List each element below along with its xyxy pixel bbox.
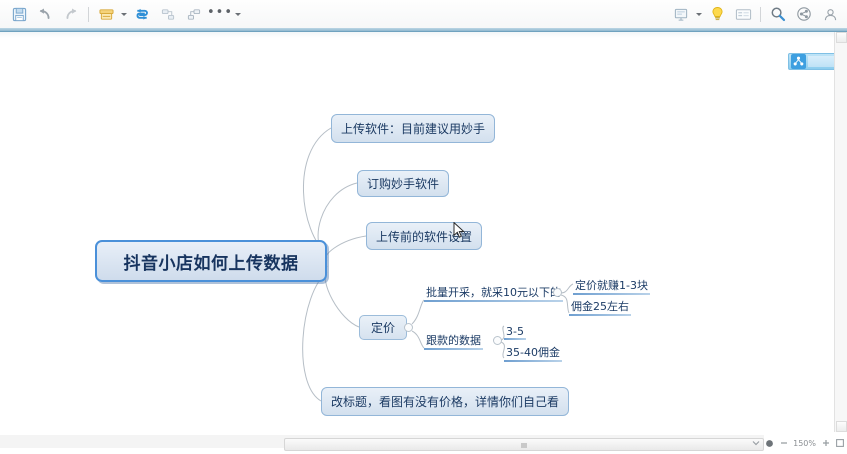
horizontal-scrollbar-track[interactable]: [0, 435, 764, 448]
collapse-toggle-pricing[interactable]: [404, 323, 413, 332]
vertical-scrollbar[interactable]: [834, 32, 847, 432]
status-bar-right-group: 150%: [751, 434, 844, 452]
mindmap-root-node[interactable]: 抖音小店如何上传数据: [95, 240, 327, 282]
fit-page-icon[interactable]: [751, 439, 760, 448]
account-icon[interactable]: [817, 1, 843, 27]
toolbar-divider-2: [760, 7, 761, 22]
redo-icon[interactable]: [58, 1, 84, 27]
node-label: 定价: [371, 319, 395, 336]
scroll-up-arrow-icon[interactable]: [836, 32, 847, 43]
node-label: 3-5: [506, 325, 524, 338]
mindmap-node-follow-data[interactable]: 跟款的数据: [424, 330, 483, 350]
node-label: 跟款的数据: [426, 332, 481, 348]
mindmap-diagram: 抖音小店如何上传数据 上传软件：目前建议用妙手 订购妙手软件 上传前的软件设置 …: [0, 32, 834, 432]
style-panel-tab-fill: [808, 56, 834, 67]
toolbar-right-group: [668, 0, 843, 28]
node-label: 订购妙手软件: [367, 175, 439, 192]
share-icon[interactable]: [791, 1, 817, 27]
toolbar-left-group: •••: [0, 1, 243, 27]
demote-icon[interactable]: [181, 1, 207, 27]
mindmap-node-pricing[interactable]: 定价: [359, 315, 407, 340]
collapse-toggle-follow-data[interactable]: [493, 336, 502, 345]
main-toolbar: •••: [0, 0, 847, 28]
swap-style-icon[interactable]: [129, 1, 155, 27]
mindmap-node-upload-software[interactable]: 上传软件：目前建议用妙手: [331, 114, 495, 143]
center-map-icon[interactable]: [765, 439, 774, 448]
node-label: 改标题，看图有没有价格，详情你们自己看: [331, 393, 559, 410]
node-style-icon: [791, 54, 806, 69]
horizontal-scrollbar-thumb[interactable]: [284, 438, 764, 451]
zoom-out-icon[interactable]: [779, 439, 788, 448]
node-label: 定价就赚1-3块: [575, 277, 648, 293]
node-label: 上传前的软件设置: [376, 228, 472, 245]
zoom-level-label: 150%: [793, 439, 816, 448]
mindmap-node-change-title[interactable]: 改标题，看图有没有价格，详情你们自己看: [321, 387, 569, 416]
node-label: 上传软件：目前建议用妙手: [341, 120, 485, 137]
mindmap-node-commission-35-40[interactable]: 35-40佣金: [504, 342, 562, 362]
collapse-toggle-bulk-collect[interactable]: [553, 288, 562, 297]
search-icon[interactable]: [765, 1, 791, 27]
status-bar: 150%: [0, 432, 847, 454]
mindmap-node-presettings[interactable]: 上传前的软件设置: [366, 222, 482, 250]
more-icon[interactable]: •••: [207, 1, 233, 27]
mindmap-canvas[interactable]: 抖音小店如何上传数据 上传软件：目前建议用妙手 订购妙手软件 上传前的软件设置 …: [0, 32, 834, 432]
mindmap-node-range-3-5[interactable]: 3-5: [504, 320, 526, 340]
mindmap-application-window: •••: [0, 0, 847, 454]
promote-icon[interactable]: [155, 1, 181, 27]
format-painter-icon[interactable]: [93, 1, 119, 27]
more-dropdown-icon[interactable]: [233, 2, 243, 26]
mindmap-node-bulk-collect[interactable]: 批量开采，就采10元以下的: [424, 282, 563, 302]
mindmap-node-profit-range[interactable]: 定价就赚1-3块: [573, 276, 650, 295]
mindmap-node-order-software[interactable]: 订购妙手软件: [357, 170, 449, 197]
node-label: 35-40佣金: [506, 344, 560, 360]
style-panel-tab[interactable]: [788, 53, 834, 70]
root-node-label: 抖音小店如何上传数据: [124, 249, 299, 274]
presentation-icon[interactable]: [668, 1, 694, 27]
brainstorm-bulb-icon[interactable]: [704, 1, 730, 27]
format-painter-dropdown-icon[interactable]: [119, 2, 129, 26]
zoom-in-icon[interactable]: [821, 439, 830, 448]
more-dots: •••: [207, 6, 233, 23]
presentation-dropdown-icon[interactable]: [694, 2, 704, 26]
mindmap-node-commission-25[interactable]: 佣金25左右: [569, 296, 631, 316]
scroll-down-arrow-icon[interactable]: [836, 421, 847, 432]
canvas-top-shade: [0, 32, 834, 38]
undo-icon[interactable]: [32, 1, 58, 27]
fullscreen-icon[interactable]: [835, 439, 844, 448]
node-label: 批量开采，就采10元以下的: [426, 284, 561, 300]
toolbar-divider-1: [88, 7, 89, 22]
save-icon[interactable]: [6, 1, 32, 27]
node-label: 佣金25左右: [571, 298, 629, 314]
outline-icon[interactable]: [730, 1, 756, 27]
